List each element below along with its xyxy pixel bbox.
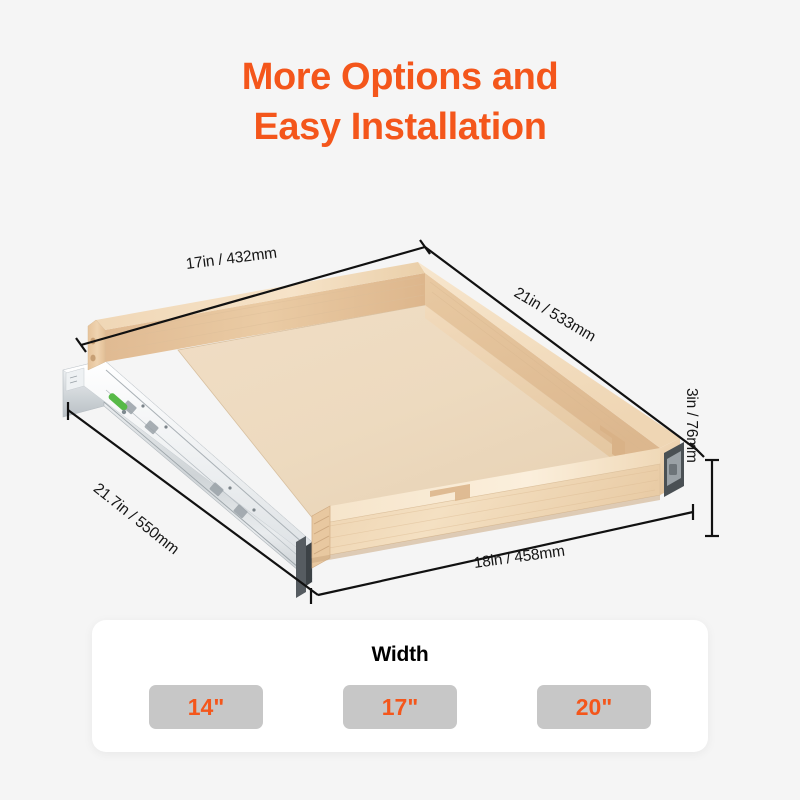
page-title-line-2: Easy Installation — [0, 102, 800, 152]
width-option-20[interactable]: 20" — [537, 685, 651, 729]
page-title: More Options and Easy Installation — [0, 52, 800, 152]
width-option-14[interactable]: 14" — [149, 685, 263, 729]
product-illustration — [0, 210, 800, 610]
dimension-height — [705, 460, 719, 536]
dimension-label-height: 3in / 76mm — [682, 388, 700, 463]
width-options-card: Width 14" 17" 20" — [92, 620, 708, 752]
width-option-17[interactable]: 17" — [343, 685, 457, 729]
page-title-line-1: More Options and — [0, 52, 800, 102]
drawer-diagram — [0, 210, 800, 610]
width-card-title: Width — [371, 643, 428, 667]
width-options-list: 14" 17" 20" — [149, 685, 651, 729]
